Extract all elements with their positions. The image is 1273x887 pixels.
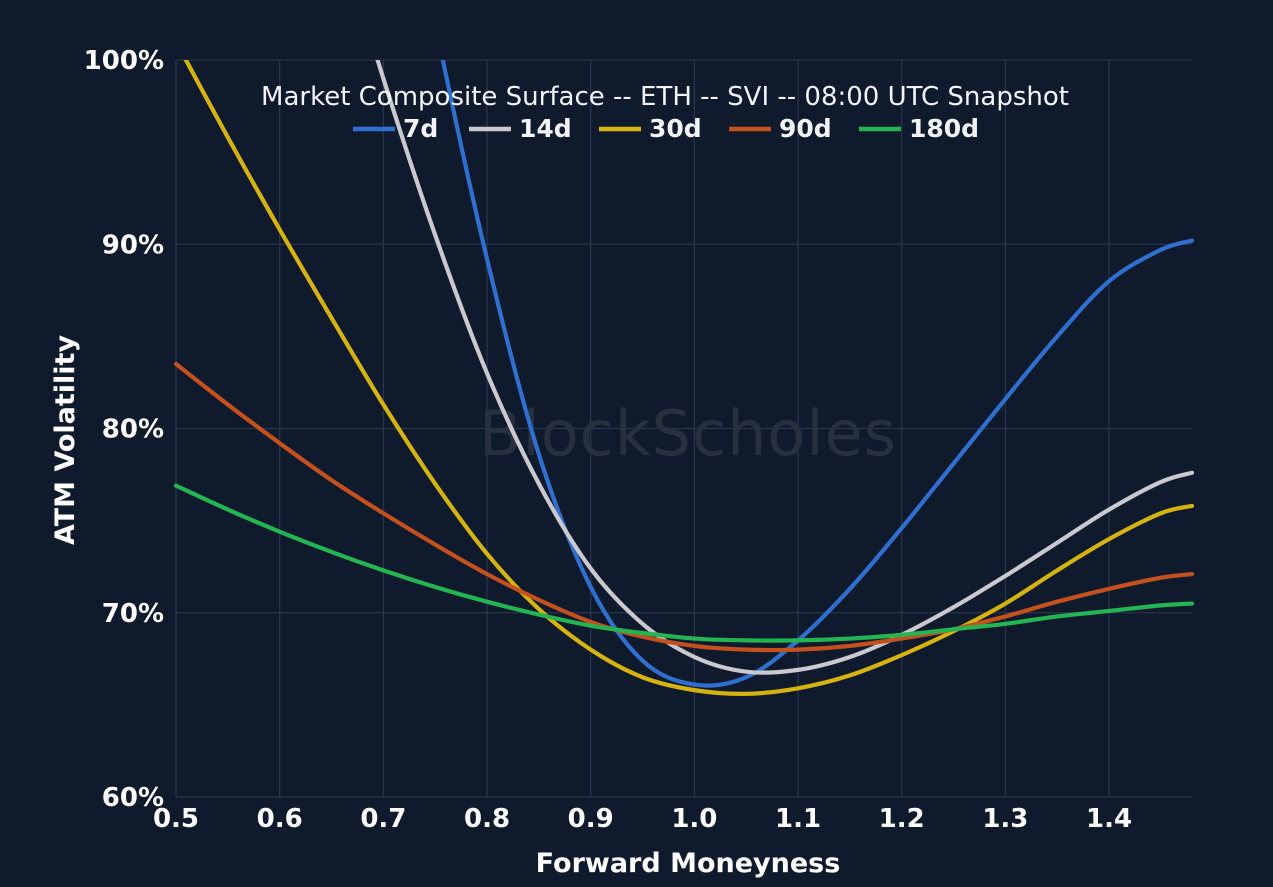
x-axis-title: Forward Moneyness xyxy=(536,848,841,879)
y-axis-title: ATM Volatility xyxy=(50,335,81,546)
y-tick-label: 70% xyxy=(102,599,164,629)
volatility-smile-chart: BlockScholes 60%70%80%90%100% 0.50.60.70… xyxy=(0,0,1273,887)
y-tick-label: 80% xyxy=(102,415,164,445)
x-tick-label: 1.4 xyxy=(1086,804,1132,834)
legend-label-90d: 90d xyxy=(779,114,832,143)
x-tick-label: 0.7 xyxy=(360,804,406,834)
x-tick-label: 1.0 xyxy=(671,804,717,834)
legend-label-14d: 14d xyxy=(519,114,572,143)
chart-title: Market Composite Surface -- ETH -- SVI -… xyxy=(261,82,1069,112)
x-tick-label: 1.2 xyxy=(879,804,925,834)
x-tick-label: 1.1 xyxy=(775,804,821,834)
x-tick-label: 0.9 xyxy=(568,804,614,834)
x-tick-label: 0.8 xyxy=(464,804,510,834)
chart-container: BlockScholes 60%70%80%90%100% 0.50.60.70… xyxy=(0,0,1273,887)
x-tick-label: 0.5 xyxy=(153,804,199,834)
y-tick-label: 90% xyxy=(102,230,164,260)
x-tick-label: 0.6 xyxy=(257,804,303,834)
legend-label-30d: 30d xyxy=(649,114,702,143)
legend-label-180d: 180d xyxy=(909,114,979,143)
y-tick-label: 100% xyxy=(84,46,164,76)
x-tick-label: 1.3 xyxy=(982,804,1028,834)
legend-label-7d: 7d xyxy=(403,114,438,143)
